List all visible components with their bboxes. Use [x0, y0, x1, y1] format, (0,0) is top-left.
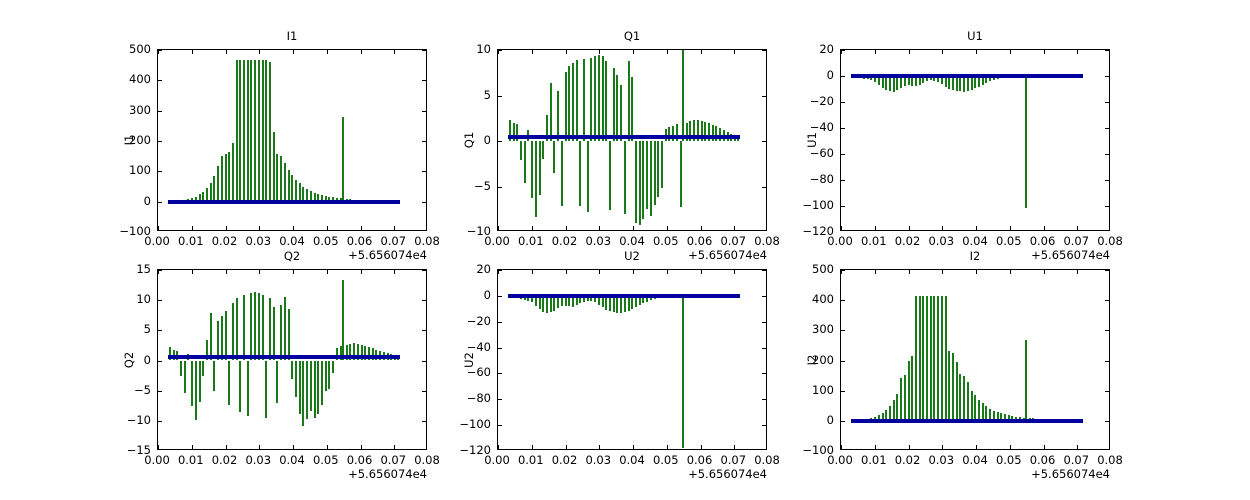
stem-bar — [228, 152, 230, 201]
stem-bar — [583, 59, 585, 141]
stem-bar — [967, 382, 969, 421]
stem-bar — [247, 361, 249, 417]
x-tick-label: 0.04 — [279, 235, 305, 247]
stem-bar — [314, 361, 316, 419]
stem-bar — [284, 163, 286, 202]
stem-bar — [911, 356, 913, 421]
subplot-title: I2 — [840, 250, 1110, 263]
y-tick-label: 500 — [792, 263, 834, 275]
x-tick-label: 0.04 — [962, 454, 988, 466]
y-tick-label: 200 — [109, 134, 151, 146]
stem-bar — [948, 351, 950, 420]
y-tick-label: −100 — [792, 199, 834, 211]
stem-bar — [620, 85, 622, 141]
stem-bar — [933, 296, 935, 421]
y-tick-label: 300 — [792, 323, 834, 335]
plot-area — [497, 269, 767, 450]
y-tick-label: −40 — [449, 341, 491, 353]
stem-bar — [280, 156, 282, 202]
stem-bar — [265, 361, 267, 418]
series-stems — [158, 50, 426, 230]
stem-bar — [620, 296, 622, 313]
series-stems — [841, 50, 1109, 230]
data-marker — [736, 294, 740, 298]
y-tick-label: 15 — [109, 263, 151, 275]
y-tick-label: 0 — [792, 69, 834, 81]
plot-area — [840, 269, 1110, 450]
stem-bar — [243, 60, 245, 201]
stem-bar — [572, 63, 574, 141]
x-tick-label: 0.02 — [552, 454, 578, 466]
stem-bar — [291, 361, 293, 379]
stem-bar — [225, 154, 227, 202]
y-tick-label: −60 — [449, 366, 491, 378]
subplot-title: U1 — [840, 30, 1110, 43]
stem-bar — [974, 395, 976, 421]
y-tick-label: −10 — [109, 414, 151, 426]
x-tick-label: 0.03 — [928, 454, 954, 466]
stem-bar — [594, 56, 596, 141]
y-tick-label: −120 — [449, 444, 491, 456]
stem-bar — [232, 303, 234, 360]
data-marker — [736, 135, 740, 139]
stem-bar — [922, 296, 924, 421]
y-tick-label: 10 — [449, 43, 491, 55]
stem-bar — [945, 296, 947, 421]
stem-bar — [210, 313, 212, 360]
stem-bar — [546, 296, 548, 313]
stem-bar — [295, 361, 297, 397]
series-stems — [158, 270, 426, 449]
stem-bar — [273, 307, 275, 360]
x-axis-offset-text: +5.656074e4 — [348, 467, 427, 481]
y-tick-label: 5 — [449, 89, 491, 101]
series-stems — [841, 270, 1109, 449]
y-tick-label: 0 — [109, 195, 151, 207]
x-tick-label: 0.08 — [414, 454, 440, 466]
y-tick-label: 400 — [792, 293, 834, 305]
stem-bar — [682, 296, 684, 448]
stem-bar — [288, 309, 290, 361]
x-tick-label: 0.06 — [1030, 454, 1056, 466]
x-tick-label: 0.04 — [279, 454, 305, 466]
x-tick-label: 0.03 — [585, 235, 611, 247]
y-tick-label: −40 — [792, 121, 834, 133]
x-tick-label: 0.06 — [1030, 235, 1056, 247]
stem-bar — [269, 62, 271, 202]
y-tick-label: −20 — [449, 315, 491, 327]
stem-bar — [624, 141, 626, 214]
stem-bar — [542, 141, 544, 159]
y-axis-label: U1 — [805, 110, 819, 170]
stem-bar — [262, 60, 264, 201]
stem-bar — [213, 176, 215, 202]
stem-bar — [254, 60, 256, 201]
stem-bar — [180, 361, 182, 377]
stem-bar — [273, 132, 275, 202]
stem-bar — [635, 141, 637, 223]
x-tick-label: 0.05 — [313, 235, 339, 247]
x-tick-label: 0.07 — [1063, 235, 1089, 247]
stem-bar — [265, 60, 267, 201]
stem-bar — [661, 141, 663, 188]
x-tick-label: 0.06 — [347, 454, 373, 466]
subplot-q1: Q1+5.656074e4Q10.000.010.020.030.040.050… — [497, 49, 767, 231]
subplot-i2: I2+5.656074e4I20.000.010.020.030.040.050… — [840, 269, 1110, 450]
stem-bar — [598, 55, 600, 141]
y-tick-label: 100 — [109, 164, 151, 176]
stem-bar — [941, 296, 943, 421]
x-tick-label: 0.05 — [653, 235, 679, 247]
stem-bar — [590, 58, 592, 141]
stem-bar — [919, 296, 921, 421]
data-marker — [1079, 419, 1083, 423]
stem-bar — [646, 141, 648, 209]
y-tick-label: 0 — [109, 354, 151, 366]
x-tick-label: 0.07 — [1063, 454, 1089, 466]
stem-bar — [908, 361, 910, 420]
x-tick-label: 0.03 — [245, 235, 271, 247]
y-tick-label: −20 — [792, 95, 834, 107]
stem-bar — [642, 141, 644, 219]
stem-bar — [602, 56, 604, 141]
stem-bar — [963, 376, 965, 421]
subplot-q2: Q2+5.656074e4Q20.000.010.020.030.040.050… — [157, 269, 427, 450]
y-tick-label: 0 — [792, 414, 834, 426]
stem-bar — [258, 293, 260, 361]
subplot-u1: U1+5.656074e4U10.000.010.020.030.040.050… — [840, 49, 1110, 231]
stem-bar — [291, 175, 293, 202]
stem-bar — [195, 361, 197, 421]
stem-bar — [225, 311, 227, 360]
stem-bar — [243, 295, 245, 361]
x-tick-label: 0.02 — [895, 454, 921, 466]
x-tick-label: 0.08 — [754, 454, 780, 466]
stem-bar — [247, 60, 249, 201]
stem-bar — [325, 361, 327, 391]
stem-bar — [550, 296, 552, 313]
x-tick-label: 0.06 — [347, 235, 373, 247]
x-tick-label: 0.05 — [996, 454, 1022, 466]
stem-bar — [306, 361, 308, 420]
y-tick-label: 500 — [109, 43, 151, 55]
stem-bar — [550, 83, 552, 141]
stem-bar — [624, 296, 626, 312]
stem-bar — [904, 375, 906, 421]
x-tick-label: 0.01 — [861, 235, 887, 247]
stem-bar — [317, 361, 319, 414]
x-tick-label: 0.02 — [552, 235, 578, 247]
y-tick-label: 0 — [449, 289, 491, 301]
x-tick-label: 0.02 — [895, 235, 921, 247]
series-stems — [498, 50, 766, 230]
stem-bar — [199, 361, 201, 403]
stem-bar — [213, 361, 215, 391]
stem-bar — [568, 66, 570, 141]
stem-bar — [524, 141, 526, 183]
x-tick-label: 0.04 — [619, 454, 645, 466]
x-tick-label: 0.07 — [720, 454, 746, 466]
stem-bar — [250, 293, 252, 361]
stem-bar — [978, 400, 980, 421]
stem-bar — [535, 141, 537, 217]
plot-area — [157, 269, 427, 450]
stem-bar — [930, 296, 932, 421]
stem-bar — [217, 166, 219, 202]
stem-bar — [269, 298, 271, 360]
stem-bar — [232, 143, 234, 202]
y-tick-label: −120 — [792, 225, 834, 237]
x-tick-label: 0.03 — [928, 235, 954, 247]
y-tick-label: −100 — [449, 418, 491, 430]
stem-bar — [1025, 340, 1027, 421]
data-marker — [396, 355, 400, 359]
stem-bar — [971, 391, 973, 421]
subplot-title: I1 — [157, 30, 427, 43]
data-marker — [1079, 74, 1083, 78]
y-tick-label: 100 — [792, 384, 834, 396]
x-tick-label: 0.05 — [653, 454, 679, 466]
stem-bar — [613, 296, 615, 312]
stem-bar — [295, 180, 297, 202]
stem-bar — [680, 141, 682, 207]
stem-bar — [321, 361, 323, 406]
stem-bar — [650, 141, 652, 216]
series-stems — [498, 270, 766, 449]
stem-bar — [565, 72, 567, 141]
y-tick-label: 300 — [109, 104, 151, 116]
stem-bar — [332, 361, 334, 373]
stem-bar — [520, 141, 522, 160]
stem-bar — [342, 117, 344, 202]
stem-bar — [959, 374, 961, 420]
x-tick-label: 0.08 — [1097, 235, 1123, 247]
plot-area — [497, 49, 767, 231]
stem-bar — [342, 280, 344, 360]
stem-bar — [280, 305, 282, 361]
stem-bar — [239, 361, 241, 413]
figure-canvas: I1+5.656074e4I10.000.010.020.030.040.050… — [0, 0, 1250, 500]
x-tick-label: 0.06 — [687, 235, 713, 247]
stem-bar — [202, 361, 204, 377]
y-tick-label: 0 — [449, 134, 491, 146]
stem-bar — [900, 378, 902, 421]
stem-bar — [579, 141, 581, 206]
stem-bar — [561, 141, 563, 206]
y-tick-label: 10 — [109, 293, 151, 305]
stem-bar — [628, 61, 630, 141]
y-tick-label: 20 — [449, 263, 491, 275]
x-tick-label: 0.01 — [178, 454, 204, 466]
stem-bar — [613, 68, 615, 141]
y-axis-label: U2 — [462, 330, 476, 390]
stem-bar — [937, 296, 939, 421]
stem-bar — [302, 361, 304, 426]
y-tick-label: −5 — [109, 384, 151, 396]
stem-bar — [254, 292, 256, 360]
stem-bar — [328, 361, 330, 390]
plot-area — [840, 49, 1110, 231]
stem-bar — [631, 77, 633, 141]
stem-bar — [228, 361, 230, 406]
y-tick-label: −15 — [109, 444, 151, 456]
y-tick-label: −60 — [792, 147, 834, 159]
stem-bar — [576, 60, 578, 141]
x-tick-label: 0.03 — [245, 454, 271, 466]
stem-bar — [1025, 76, 1027, 208]
x-tick-label: 0.08 — [1097, 454, 1123, 466]
stem-bar — [191, 361, 193, 407]
x-tick-label: 0.01 — [178, 235, 204, 247]
stem-bar — [184, 361, 186, 394]
stem-bar — [616, 296, 618, 313]
x-tick-label: 0.01 — [518, 235, 544, 247]
x-tick-label: 0.05 — [313, 454, 339, 466]
stem-bar — [553, 141, 555, 173]
x-tick-label: 0.04 — [619, 235, 645, 247]
y-tick-label: 200 — [792, 354, 834, 366]
x-tick-label: 0.04 — [962, 235, 988, 247]
stem-bar — [926, 296, 928, 421]
stem-bar — [299, 361, 301, 414]
stem-bar — [657, 141, 659, 197]
x-tick-label: 0.02 — [212, 454, 238, 466]
stem-bar — [893, 400, 895, 421]
stem-bar — [557, 91, 559, 141]
y-tick-label: −10 — [449, 225, 491, 237]
x-tick-label: 0.06 — [687, 454, 713, 466]
x-tick-label: 0.08 — [754, 235, 780, 247]
subplot-title: U2 — [497, 250, 767, 263]
stem-bar — [639, 141, 641, 225]
plot-area — [157, 49, 427, 231]
stem-bar — [587, 141, 589, 212]
stem-bar — [310, 361, 312, 412]
stem-bar — [221, 156, 223, 202]
y-tick-label: −100 — [792, 444, 834, 456]
y-tick-label: −80 — [792, 173, 834, 185]
data-marker — [396, 200, 400, 204]
x-tick-label: 0.03 — [585, 454, 611, 466]
y-tick-label: 20 — [792, 43, 834, 55]
y-tick-label: −5 — [449, 180, 491, 192]
stem-bar — [682, 50, 684, 141]
stem-bar — [236, 298, 238, 360]
y-tick-label: −80 — [449, 392, 491, 404]
x-tick-label: 0.07 — [380, 454, 406, 466]
x-tick-label: 0.07 — [380, 235, 406, 247]
stem-bar — [952, 353, 954, 421]
subplot-u2: U2+5.656074e4U20.000.010.020.030.040.050… — [497, 269, 767, 450]
stem-bar — [288, 170, 290, 202]
stem-bar — [956, 362, 958, 421]
x-axis-offset-text: +5.656074e4 — [1031, 467, 1110, 481]
stem-bar — [262, 295, 264, 361]
x-tick-label: 0.08 — [414, 235, 440, 247]
stem-bar — [276, 361, 278, 403]
stem-bar — [896, 394, 898, 421]
stem-bar — [258, 60, 260, 201]
stem-bar — [616, 75, 618, 141]
stem-bar — [250, 60, 252, 201]
stem-bar — [539, 141, 541, 195]
stem-bar — [276, 154, 278, 202]
subplot-title: Q2 — [157, 250, 427, 263]
stem-bar — [605, 61, 607, 141]
stem-bar — [609, 141, 611, 210]
stem-bar — [236, 60, 238, 201]
x-tick-label: 0.01 — [518, 454, 544, 466]
x-tick-label: 0.02 — [212, 235, 238, 247]
y-tick-label: 400 — [109, 73, 151, 85]
stem-bar — [239, 60, 241, 201]
stem-bar — [221, 316, 223, 360]
stem-bar — [284, 297, 286, 361]
stem-bar — [531, 141, 533, 198]
subplot-i1: I1+5.656074e4I10.000.010.020.030.040.050… — [157, 49, 427, 231]
x-tick-label: 0.01 — [861, 454, 887, 466]
subplot-title: Q1 — [497, 30, 767, 43]
x-tick-label: 0.05 — [996, 235, 1022, 247]
y-tick-label: 5 — [109, 323, 151, 335]
stem-bar — [915, 296, 917, 421]
x-tick-label: 0.07 — [720, 235, 746, 247]
x-axis-offset-text: +5.656074e4 — [688, 467, 767, 481]
y-tick-label: −100 — [109, 225, 151, 237]
stem-bar — [542, 296, 544, 312]
stem-bar — [654, 141, 656, 205]
